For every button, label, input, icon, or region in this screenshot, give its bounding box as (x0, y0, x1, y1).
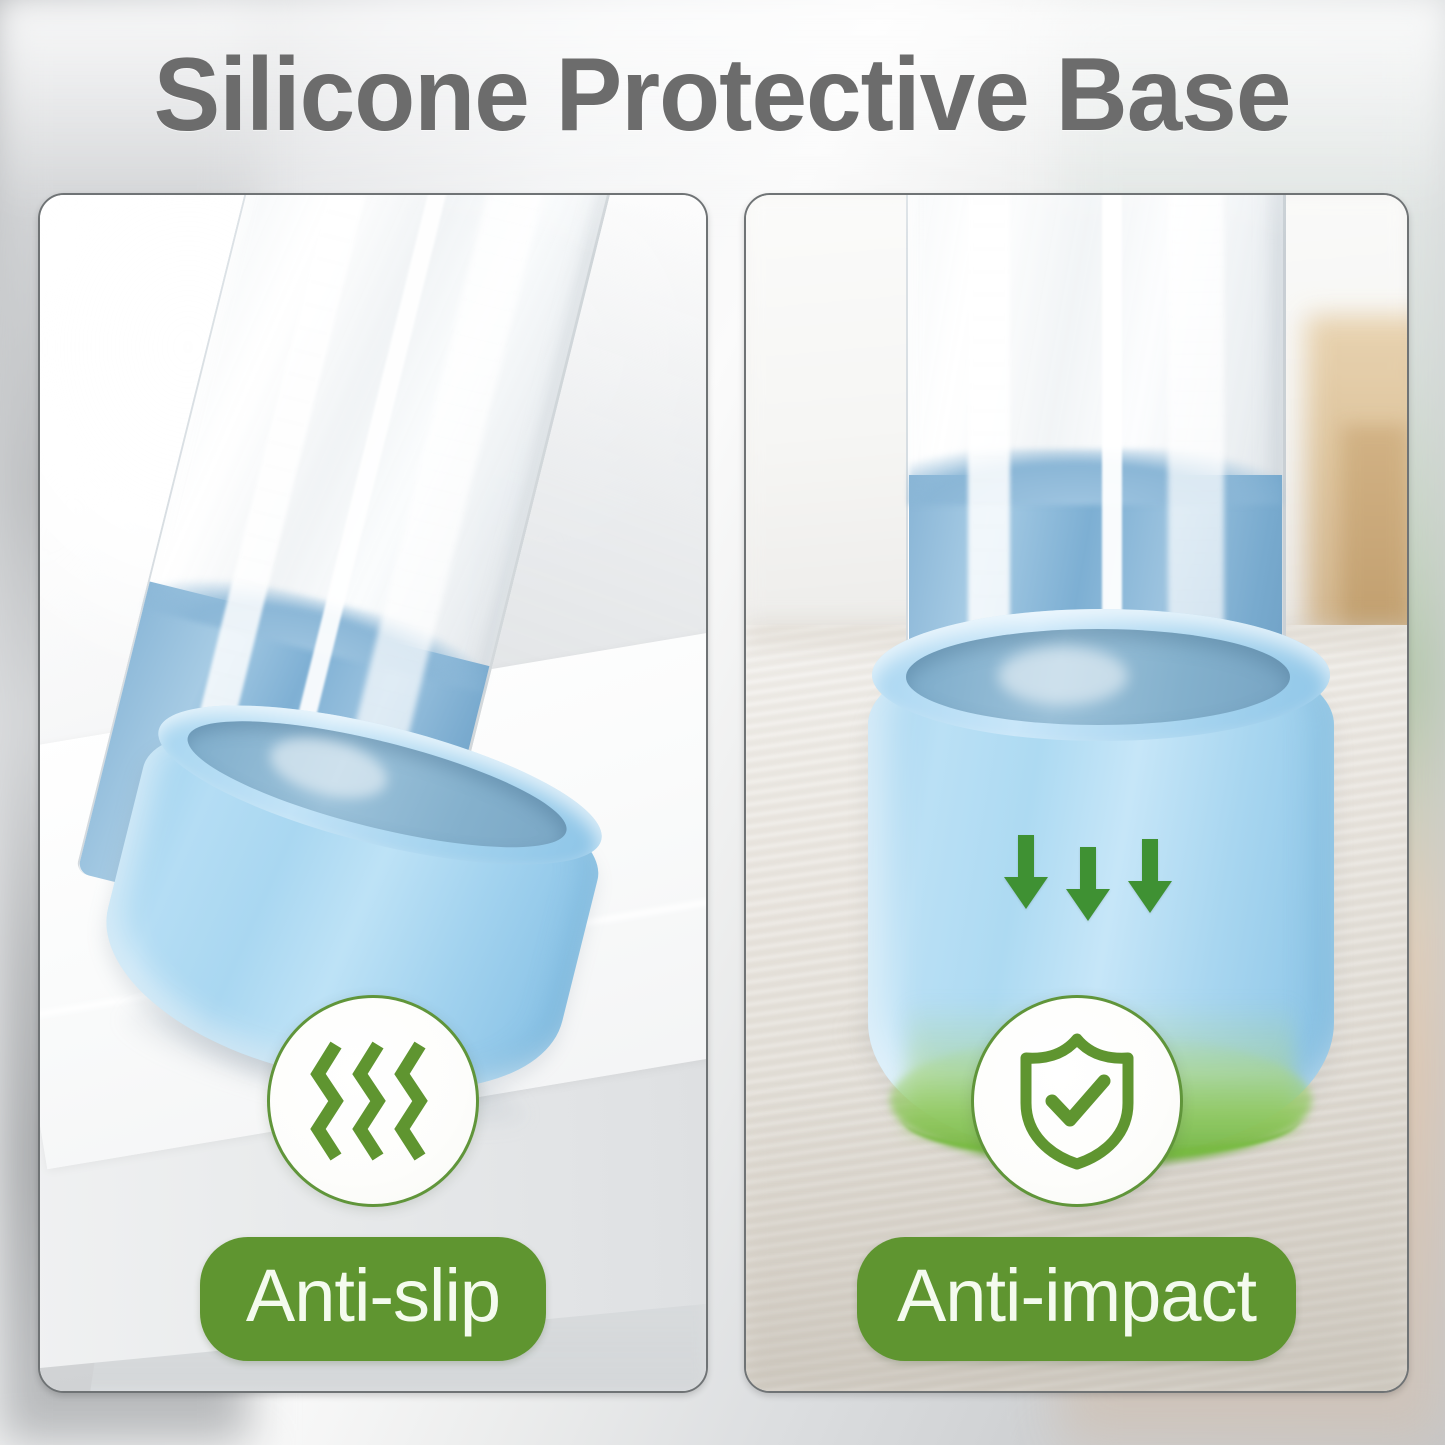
shield-check-icon (971, 995, 1183, 1207)
panel-anti-slip: Anti-slip (38, 193, 708, 1393)
page-title: Silicone Protective Base (154, 43, 1291, 147)
wavy-lines-icon (267, 995, 479, 1207)
feature-anti-impact: Anti-impact (746, 995, 1407, 1361)
down-arrow-icon (1004, 835, 1048, 909)
down-arrow-icon (1128, 839, 1172, 913)
anti-slip-label: Anti-slip (200, 1237, 546, 1361)
header: Silicone Protective Base (0, 0, 1445, 190)
feature-anti-slip: Anti-slip (40, 995, 706, 1361)
down-arrow-icon (1066, 847, 1110, 921)
sleeve-inner-highlight (998, 647, 1128, 705)
infographic-root: Silicone Protective Base (0, 0, 1445, 1445)
impact-arrows (1004, 835, 1172, 921)
anti-impact-label: Anti-impact (857, 1237, 1296, 1361)
panel-anti-impact: Anti-impact (744, 193, 1409, 1393)
bottle-top-fade (906, 193, 1286, 245)
